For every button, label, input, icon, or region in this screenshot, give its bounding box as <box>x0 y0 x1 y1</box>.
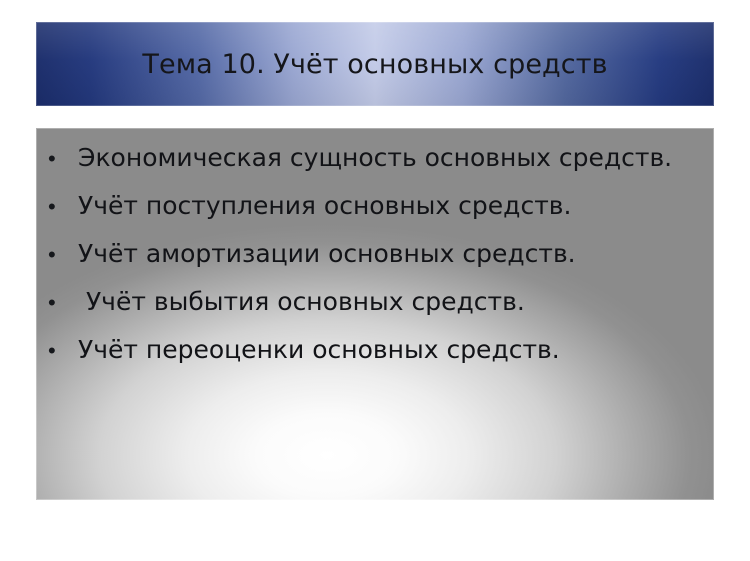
list-item: • Учёт амортизации основных средств. <box>44 230 706 278</box>
list-item: • Учёт поступления основных средств. <box>44 182 706 230</box>
slide-title: Тема 10. Учёт основных средств <box>142 49 607 80</box>
bullet-point-icon: • <box>44 279 78 327</box>
bullet-point-icon: • <box>44 135 78 183</box>
bullet-item-label: Экономическая сущность основных средств. <box>78 134 672 182</box>
list-item: • Экономическая сущность основных средст… <box>44 134 706 182</box>
slide-title-banner: Тема 10. Учёт основных средств <box>36 22 714 106</box>
bullet-point-icon: • <box>44 327 78 375</box>
slide-body-panel: • Экономическая сущность основных средст… <box>36 128 714 500</box>
bullet-point-icon: • <box>44 183 78 231</box>
list-item: • Учёт переоценки основных средств. <box>44 326 706 374</box>
list-item: • Учёт выбытия основных средств. <box>44 278 706 326</box>
bullet-list: • Экономическая сущность основных средст… <box>44 134 706 374</box>
bullet-item-label: Учёт выбытия основных средств. <box>78 278 525 326</box>
bullet-item-label: Учёт амортизации основных средств. <box>78 230 576 278</box>
bullet-point-icon: • <box>44 231 78 279</box>
bullet-item-label: Учёт переоценки основных средств. <box>78 326 560 374</box>
presentation-slide: Тема 10. Учёт основных средств • Экономи… <box>0 0 750 561</box>
bullet-item-label: Учёт поступления основных средств. <box>78 182 571 230</box>
